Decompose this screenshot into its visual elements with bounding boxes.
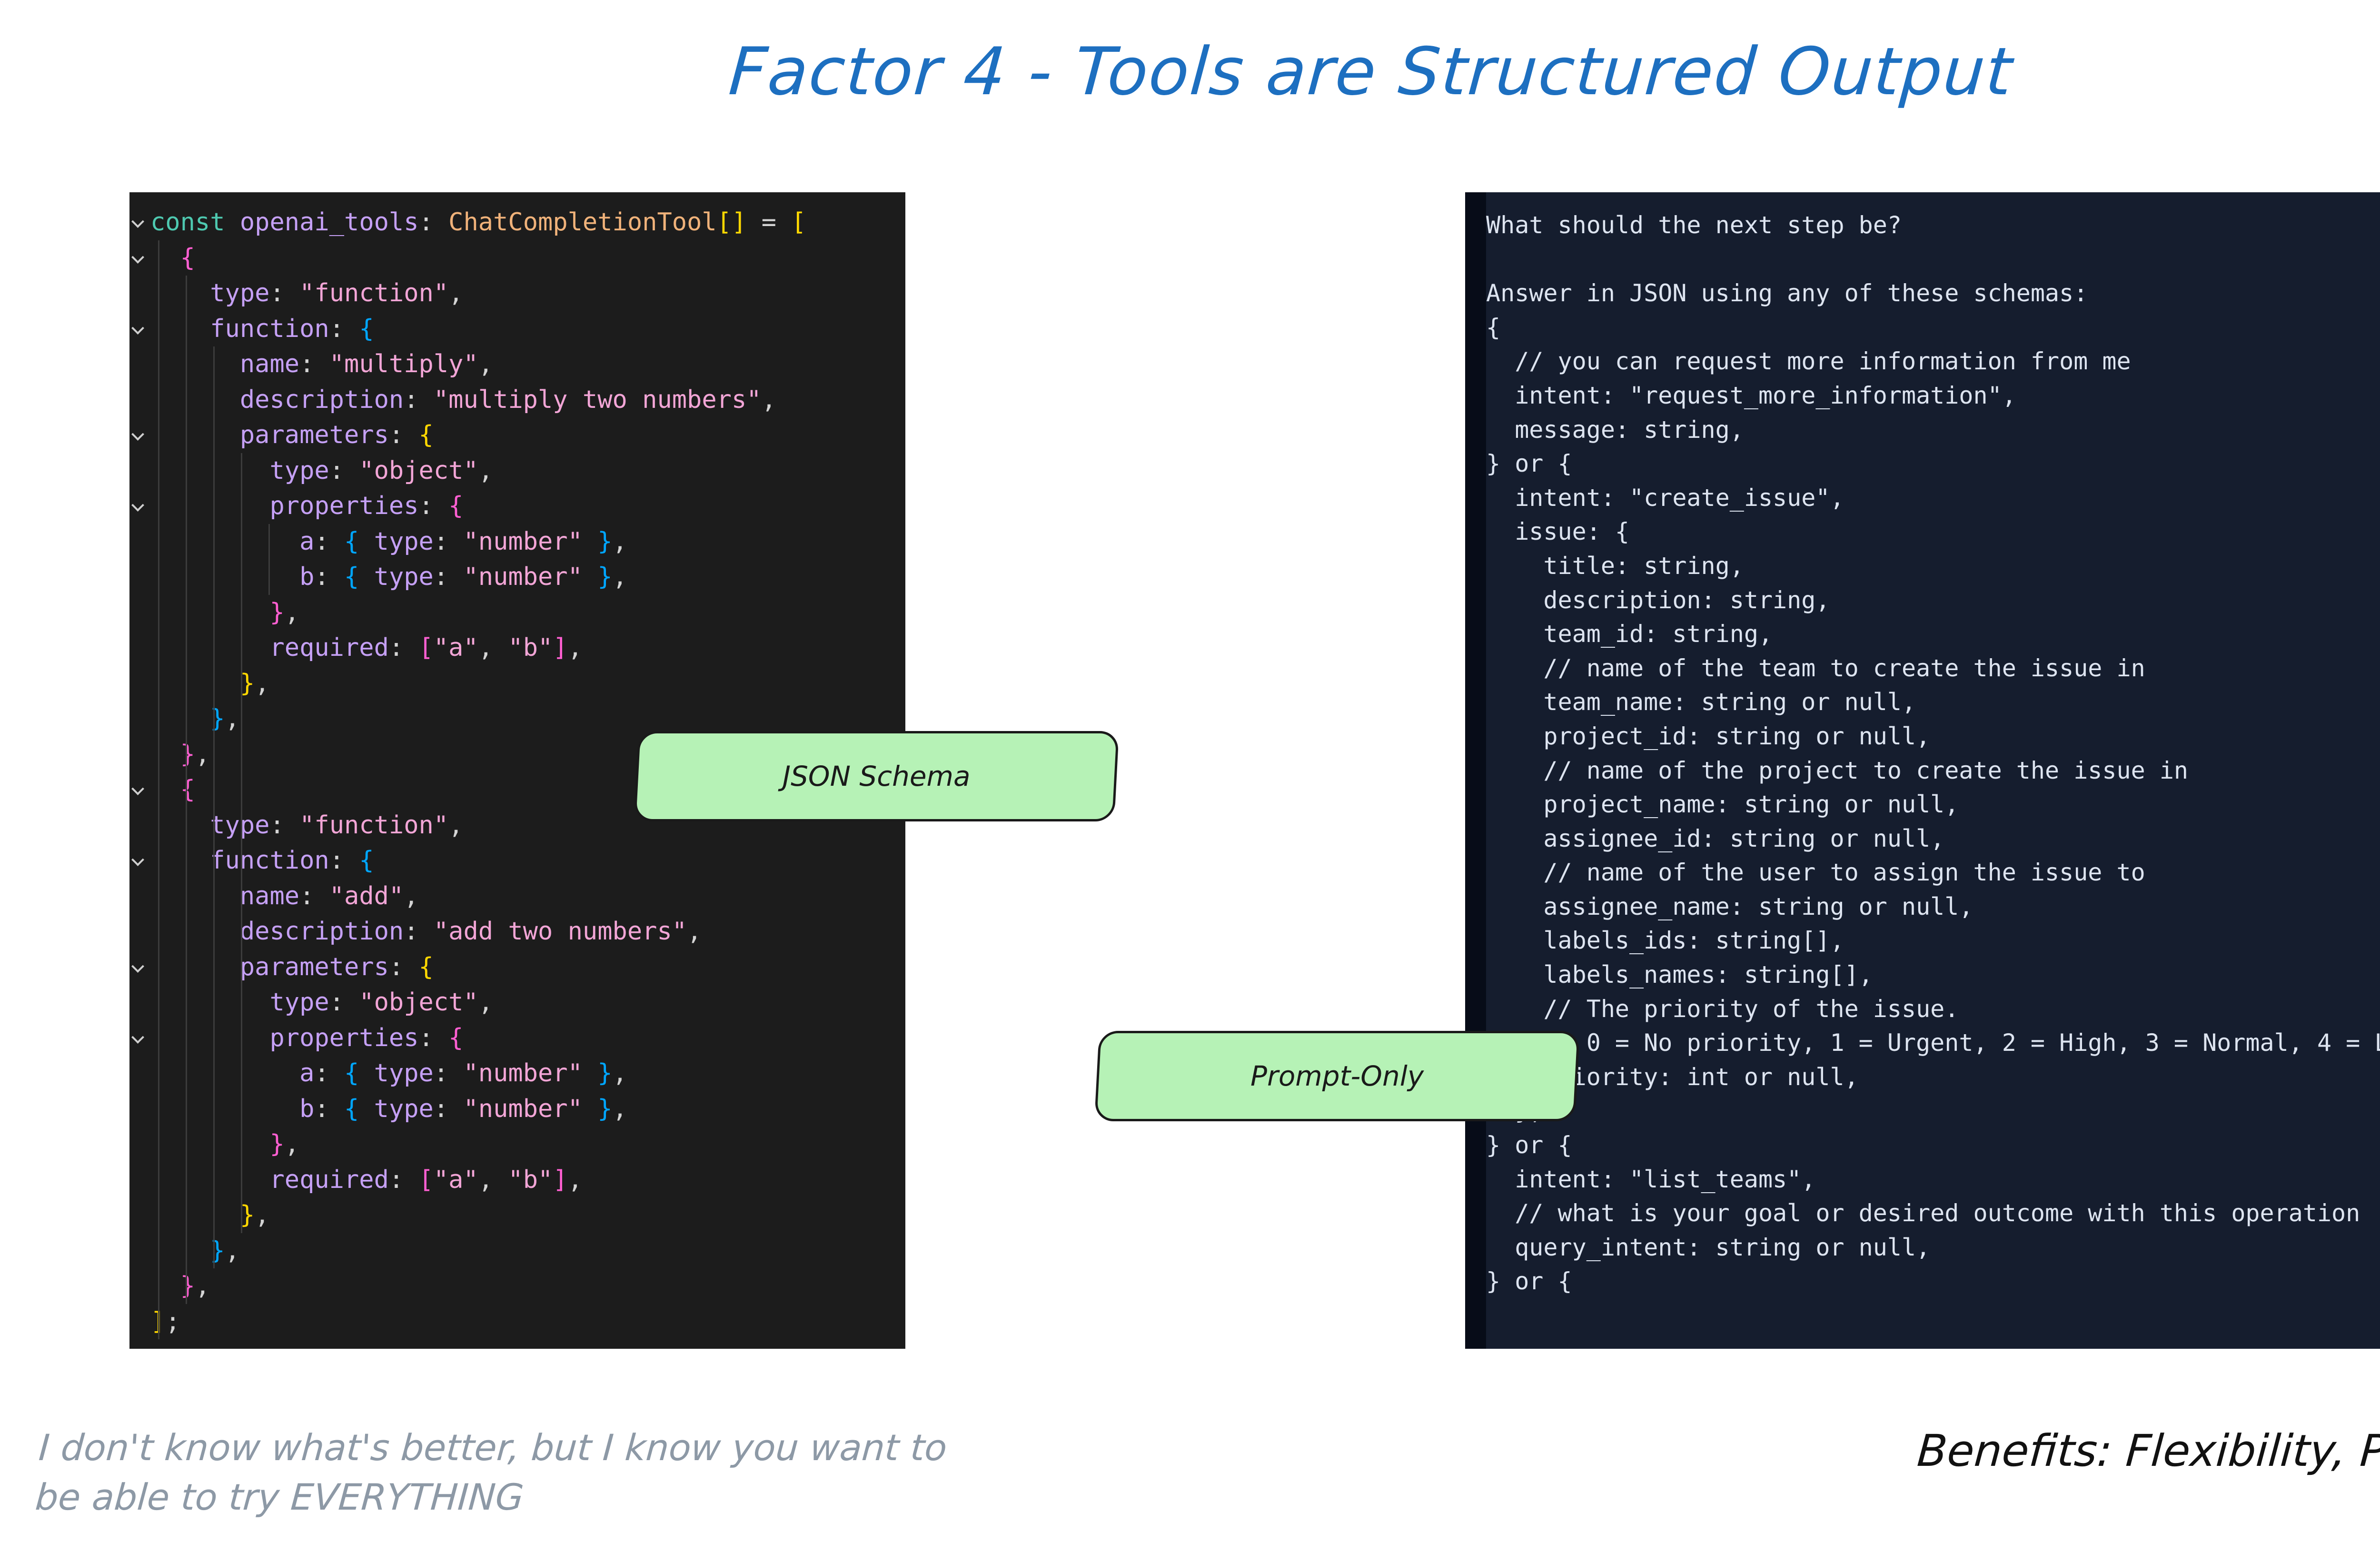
code-line: intent: "create_issue", (1486, 481, 2380, 515)
code-line: parameters: { (150, 949, 905, 985)
chevron-down-icon[interactable] (132, 1030, 147, 1044)
page-title: Factor 4 - Tools are Structured Output (0, 33, 2380, 110)
code-line: ]; (150, 1304, 905, 1340)
code-gutter-right (1465, 192, 1486, 1349)
code-line: name: "multiply", (150, 346, 905, 382)
code-line: Answer in JSON using any of these schema… (1486, 277, 2380, 311)
code-line: function: { (150, 311, 905, 347)
code-line: // name of the project to create the iss… (1486, 754, 2380, 788)
chevron-down-icon[interactable] (132, 427, 147, 441)
code-line: message: string, (1486, 413, 2380, 447)
code-line: } or { (1486, 1128, 2380, 1163)
code-line: query_intent: string or null, (1486, 1231, 2380, 1265)
caption-right: Benefits: Flexibility, Prompt Control (1915, 1425, 2380, 1476)
chevron-down-icon[interactable] (132, 214, 147, 228)
code-line: issue: { (1486, 515, 2380, 549)
code-line: What should the next step be? (1486, 208, 2380, 243)
code-line: // name of the team to create the issue … (1486, 652, 2380, 686)
indent-guide (213, 346, 215, 1268)
code-line: }, (150, 1197, 905, 1233)
code-line: required: ["a", "b"], (150, 1162, 905, 1198)
caption-left-line1: I don't know what's better, but I know y… (37, 1423, 1078, 1473)
code-line: b: { type: "number" }, (150, 559, 905, 595)
indent-guide (186, 276, 187, 1304)
code-line: // The priority of the issue. (1486, 992, 2380, 1027)
code-line: }, (150, 666, 905, 702)
code-fold-gutter-left[interactable] (129, 192, 150, 1349)
indent-guide (241, 453, 242, 1233)
code-line: parameters: { (150, 417, 905, 453)
code-line: assignee_id: string or null, (1486, 822, 2380, 856)
code-line: description: string, (1486, 583, 2380, 618)
code-line: }, (150, 1127, 905, 1162)
code-line: } or { (1486, 1265, 2380, 1299)
code-line: } or { (1486, 447, 2380, 481)
callout-json-schema[interactable]: JSON Schema (634, 731, 1119, 821)
code-line: type: "object", (150, 985, 905, 1020)
code-line: required: ["a", "b"], (150, 630, 905, 666)
code-line: description: "add two numbers", (150, 914, 905, 949)
code-line: labels_names: string[], (1486, 958, 2380, 992)
code-line: intent: "list_teams", (1486, 1163, 2380, 1197)
caption-left: I don't know what's better, but I know y… (34, 1423, 1079, 1522)
caption-left-line2: be able to try EVERYTHING (34, 1473, 1075, 1522)
callout-json-schema-label: JSON Schema (783, 760, 971, 792)
slide-root: Factor 4 - Tools are Structured Output c… (0, 0, 2380, 1542)
code-line: // what is your goal or desired outcome … (1486, 1196, 2380, 1231)
code-line: // 0 = No priority, 1 = Urgent, 2 = High… (1486, 1026, 2380, 1060)
code-line: }, (150, 1268, 905, 1304)
code-line: { (1486, 311, 2380, 345)
code-line: }, (1486, 1094, 2380, 1128)
code-line: // you can request more information from… (1486, 345, 2380, 379)
code-line: b: { type: "number" }, (150, 1091, 905, 1127)
code-line: a: { type: "number" }, (150, 524, 905, 560)
code-line: type: "object", (150, 453, 905, 489)
code-line: type: "function", (150, 276, 905, 311)
callout-prompt-only-label: Prompt-Only (1250, 1060, 1424, 1092)
code-line: assignee_name: string or null, (1486, 890, 2380, 924)
code-line: function: { (150, 843, 905, 879)
code-line: project_id: string or null, (1486, 720, 2380, 754)
code-line: a: { type: "number" }, (150, 1056, 905, 1091)
indent-guide (158, 240, 159, 1340)
code-line: properties: { (150, 488, 905, 524)
code-line (1486, 243, 2380, 277)
code-line: const openai_tools: ChatCompletionTool[]… (150, 205, 905, 240)
chevron-down-icon[interactable] (132, 498, 147, 512)
chevron-down-icon[interactable] (132, 781, 147, 796)
chevron-down-icon[interactable] (132, 959, 147, 973)
callout-prompt-only[interactable]: Prompt-Only (1094, 1031, 1580, 1121)
code-line: name: "add", (150, 879, 905, 914)
code-line: description: "multiply two numbers", (150, 382, 905, 418)
code-line: priority: int or null, (1486, 1060, 2380, 1095)
code-line: properties: { (150, 1020, 905, 1056)
code-line: }, (150, 1233, 905, 1269)
chevron-down-icon[interactable] (132, 250, 147, 264)
code-line: labels_ids: string[], (1486, 924, 2380, 958)
code-line: }, (150, 595, 905, 631)
chevron-down-icon[interactable] (132, 321, 147, 335)
code-line: // name of the user to assign the issue … (1486, 856, 2380, 890)
indent-guide (268, 524, 270, 595)
code-content-right: What should the next step be? Answer in … (1486, 208, 2380, 1349)
code-line: intent: "request_more_information", (1486, 379, 2380, 413)
code-line: team_id: string, (1486, 617, 2380, 652)
code-panel-prompt-only[interactable]: What should the next step be? Answer in … (1465, 192, 2380, 1349)
code-line: project_name: string or null, (1486, 788, 2380, 822)
chevron-down-icon[interactable] (132, 852, 147, 867)
code-line: { (150, 240, 905, 276)
code-line: title: string, (1486, 549, 2380, 583)
code-line: team_name: string or null, (1486, 685, 2380, 720)
